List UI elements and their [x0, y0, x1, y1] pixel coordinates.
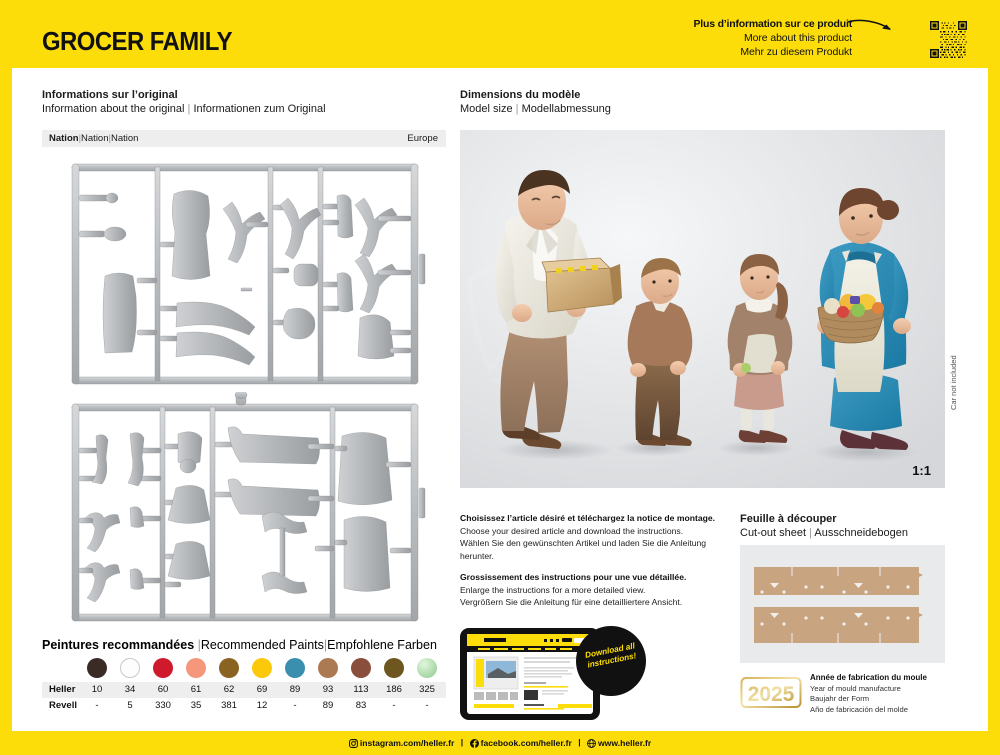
paint-code-heller: 325	[412, 684, 442, 695]
paint-code-revell: 83	[346, 700, 376, 711]
paint-swatch	[384, 658, 404, 678]
paint-code-heller: 60	[148, 684, 178, 695]
sprue-frame-a	[42, 158, 446, 390]
instagram-icon	[349, 739, 358, 748]
paint-code-revell: -	[82, 700, 112, 711]
separator: |	[809, 527, 812, 539]
paint-code-revell: -	[412, 700, 442, 711]
paints-heading-en: Recommended Paints	[201, 638, 324, 652]
paint-code-heller: 10	[82, 684, 112, 695]
paint-swatch	[318, 658, 338, 678]
paints-heading: Peintures recommandées |Recommended Pain…	[42, 636, 437, 654]
paint-swatch	[219, 658, 239, 678]
page-title: GROCER FAMILY	[42, 26, 232, 57]
instruction-2-en: Enlarge the instructions for a more deta…	[460, 584, 728, 597]
original-info-heading-fr: Informations sur l’original	[42, 88, 326, 102]
model-size-heading-sub: Model size | Modellabmessung	[460, 102, 611, 117]
header-bar: GROCER FAMILY Plus d’information sur ce …	[0, 0, 1000, 68]
cut-out-heading-fr: Feuille à découper	[740, 512, 908, 526]
instruction-2-de: Vergrößern Sie die Anleitung für eine de…	[460, 596, 728, 609]
instagram-link[interactable]: instagram.com/heller.fr	[349, 738, 455, 748]
paint-code-revell: 35	[181, 700, 211, 711]
paint-code-heller: 186	[379, 684, 409, 695]
cut-out-heading-en: Cut-out sheet	[740, 527, 806, 539]
paint-code-heller: 62	[214, 684, 244, 695]
promo-line-fr: Plus d’information sur ce produit	[694, 17, 853, 31]
paint-code-revell: 12	[247, 700, 277, 711]
year-value: 2025	[748, 683, 795, 706]
paints-heading-fr: Peintures recommandées	[42, 638, 194, 652]
paint-code-heller: 34	[115, 684, 145, 695]
paint-code-heller: 61	[181, 684, 211, 695]
facebook-url: facebook.com/heller.fr	[481, 738, 572, 748]
paints-table: Heller 1034606162698993113186325 Revell …	[42, 656, 446, 714]
original-info-heading: Informations sur l’original Information …	[42, 88, 326, 117]
scale-label: 1:1	[912, 463, 931, 478]
model-size-heading-fr: Dimensions du modèle	[460, 88, 611, 102]
paint-code-heller: 89	[280, 684, 310, 695]
instruction-1-de: Wählen Sie den gewünschten Artikel und l…	[460, 537, 728, 562]
model-size-heading-de: Modellabmessung	[522, 103, 611, 115]
nation-label-de: Nation	[111, 133, 138, 144]
original-info-heading-en: Information about the original	[42, 103, 184, 115]
footer-social-links: instagram.com/heller.fr | facebook.com/h…	[0, 737, 1000, 748]
separator: |	[574, 737, 584, 747]
nation-label-fr: Nation	[49, 133, 79, 144]
promo-line-en: More about this product	[694, 31, 853, 45]
year-label-es: Año de fabricación del molde	[810, 705, 927, 716]
model-size-heading-en: Model size	[460, 103, 513, 115]
facebook-icon	[470, 739, 479, 748]
paint-code-heller: 69	[247, 684, 277, 695]
paint-swatch	[285, 658, 305, 678]
cut-out-sheet-heading: Feuille à découper Cut-out sheet | Aussc…	[740, 512, 908, 541]
paint-color-swatches	[42, 656, 446, 682]
paint-code-revell: -	[280, 700, 310, 711]
paint-swatch	[351, 658, 371, 678]
instruction-1-en: Choose your desired article and download…	[460, 525, 728, 538]
header-promo-text: Plus d’information sur ce produit More a…	[694, 17, 853, 59]
table-row-heller: Heller 1034606162698993113186325	[42, 682, 446, 698]
nation-row: Nation|Nation|Nation Europe	[42, 130, 446, 147]
original-info-heading-de: Informationen zum Original	[193, 103, 325, 115]
instructions-text-block: Choisissez l’article désiré et télécharg…	[460, 512, 728, 609]
paint-code-heller: 93	[313, 684, 343, 695]
separator: |	[516, 103, 519, 115]
original-info-heading-sub: Information about the original | Informa…	[42, 102, 326, 117]
paint-code-revell: 89	[313, 700, 343, 711]
year-label-de: Baujahr der Form	[810, 694, 927, 705]
download-all-instructions-badge[interactable]: Download all instructions!	[576, 626, 646, 696]
paint-code-heller: 113	[346, 684, 376, 695]
instruction-1-fr: Choisissez l’article désiré et télécharg…	[460, 512, 728, 525]
paint-swatch	[252, 658, 272, 678]
product-sheet-page: GROCER FAMILY Plus d’information sur ce …	[0, 0, 1000, 755]
paint-code-revell: 330	[148, 700, 178, 711]
facebook-link[interactable]: facebook.com/heller.fr	[470, 738, 572, 748]
model-size-heading: Dimensions du modèle Model size | Modell…	[460, 88, 611, 117]
promo-line-de: Mehr zu diesem Produkt	[694, 45, 853, 59]
model-illustration: 1:1	[460, 130, 945, 488]
row-label-heller: Heller	[49, 684, 75, 695]
separator: |	[457, 737, 467, 747]
paint-code-revell: -	[379, 700, 409, 711]
year-of-mould-block: 2025 Année de fabrication du moule Year …	[740, 673, 950, 719]
cut-out-heading-de: Ausschneidebogen	[814, 527, 908, 539]
paint-swatch	[120, 658, 140, 678]
nation-label-en: Nation	[81, 133, 108, 144]
sprue-frame-b	[42, 392, 446, 624]
qr-code[interactable]	[930, 21, 967, 58]
car-not-included-note: Car not included	[949, 355, 958, 410]
year-label-fr: Année de fabrication du moule	[810, 673, 927, 684]
instruction-2-fr: Grossissement des instructions pour une …	[460, 571, 728, 584]
nation-value: Europe	[407, 133, 438, 144]
paint-swatch	[186, 658, 206, 678]
year-label-en: Year of mould manufacture	[810, 684, 927, 695]
paint-swatch	[87, 658, 107, 678]
paint-code-revell: 381	[214, 700, 244, 711]
globe-icon	[587, 739, 596, 748]
instagram-url: instagram.com/heller.fr	[360, 738, 455, 748]
paints-heading-de: Empfohlene Farben	[327, 638, 437, 652]
table-row-revell: Revell -53303538112-8983--	[42, 698, 446, 714]
website-link[interactable]: www.heller.fr	[587, 738, 651, 748]
paint-swatch	[417, 658, 437, 678]
row-label-revell: Revell	[49, 700, 77, 711]
download-badge-text: Download all instructions!	[575, 640, 648, 673]
separator: |	[188, 103, 191, 115]
curved-arrow-icon	[847, 19, 895, 37]
year-badge: 2025	[740, 676, 802, 709]
paint-code-revell: 5	[115, 700, 145, 711]
tablet-illustration: Download all instructions!	[458, 624, 668, 724]
cut-out-heading-sub: Cut-out sheet | Ausschneidebogen	[740, 526, 908, 541]
paint-swatch	[153, 658, 173, 678]
cut-out-sheet-preview	[740, 545, 945, 663]
nation-label: Nation|Nation|Nation	[49, 133, 138, 144]
year-of-mould-text: Année de fabrication du moule Year of mo…	[810, 673, 927, 715]
footer-bar: instagram.com/heller.fr | facebook.com/h…	[0, 731, 1000, 755]
website-url: www.heller.fr	[598, 738, 651, 748]
